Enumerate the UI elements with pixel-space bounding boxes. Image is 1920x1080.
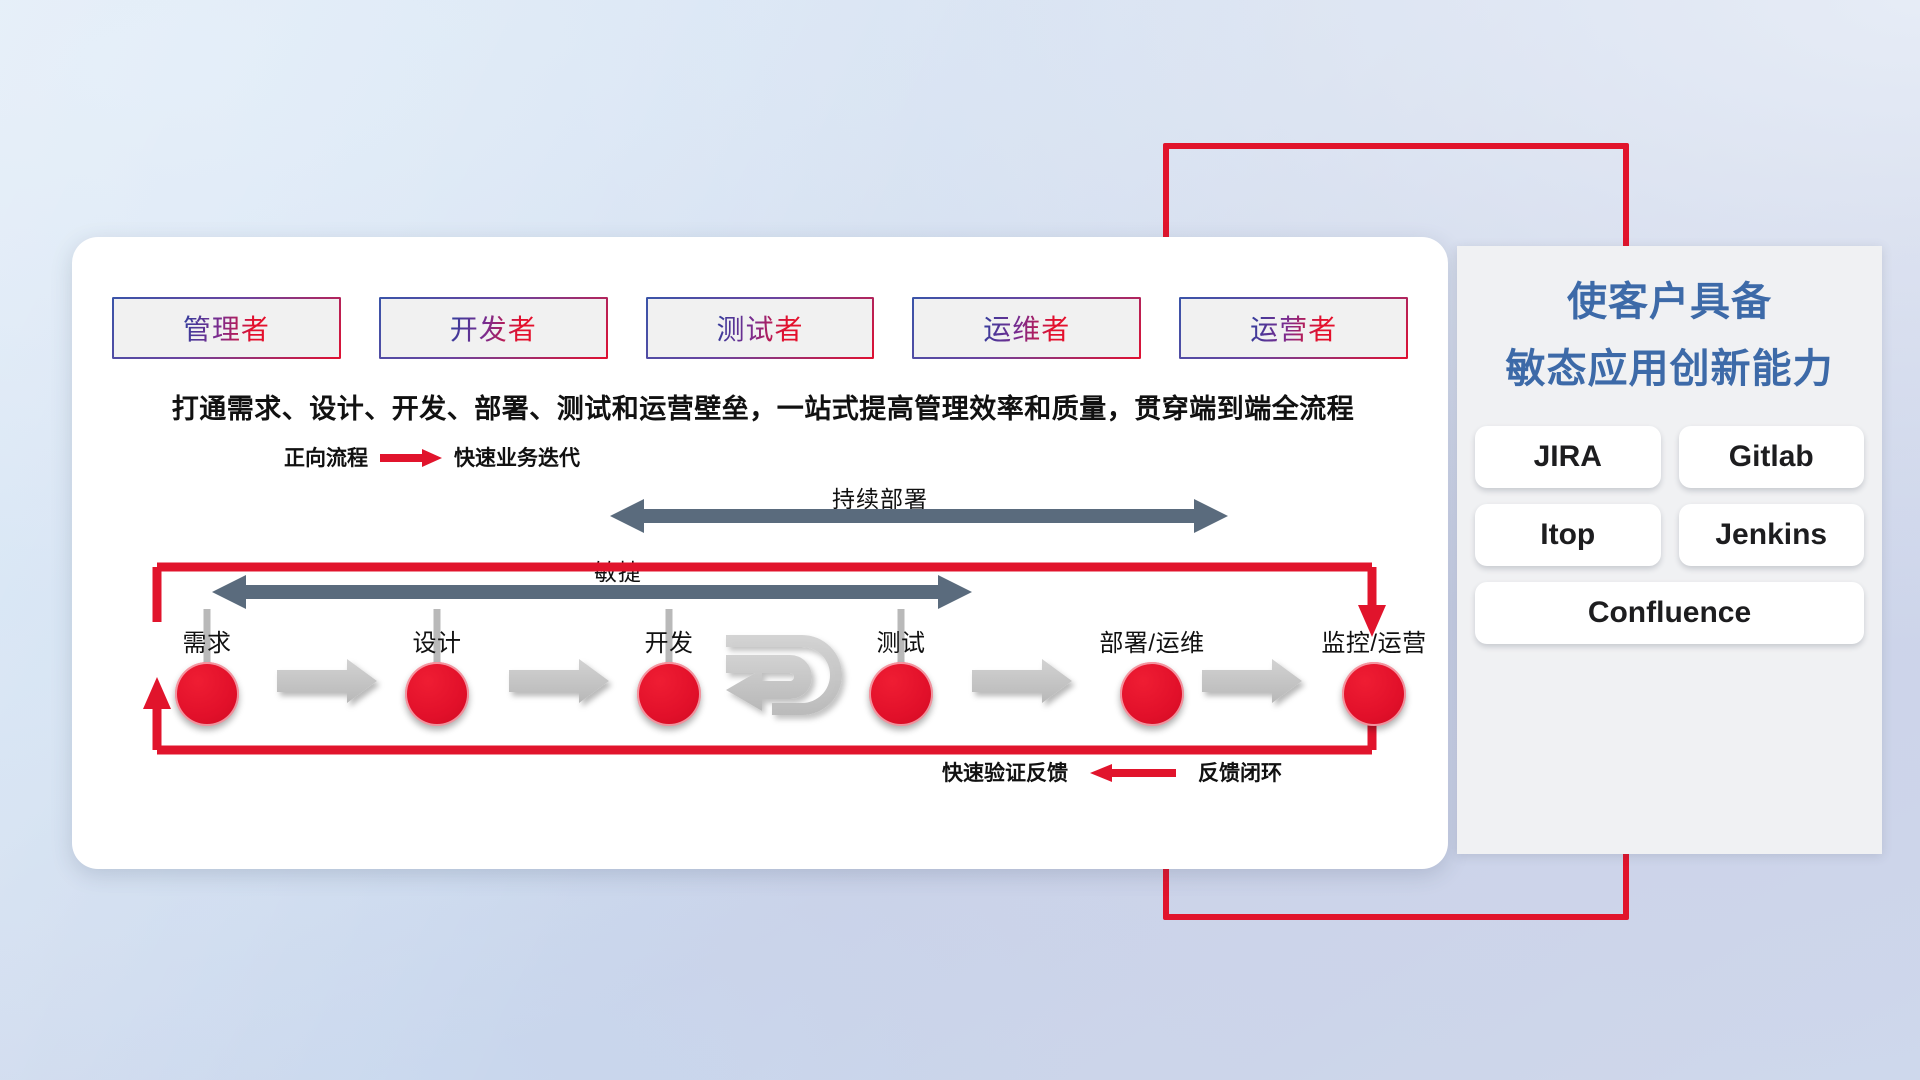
- role-box-ops[interactable]: 运维者: [912, 297, 1141, 359]
- legend-forward-flow: 正向流程 快速业务迭代: [284, 442, 580, 472]
- stage-dot: [1342, 662, 1406, 726]
- stage-requirement[interactable]: 需求: [147, 623, 267, 726]
- role-box-manager[interactable]: 管理者: [112, 297, 341, 359]
- stage-deploy-ops[interactable]: 部署/运维: [1072, 623, 1232, 726]
- tools-grid: JIRA Gitlab Itop Jenkins Confluence: [1475, 426, 1864, 644]
- role-box-tester[interactable]: 测试者: [646, 297, 875, 359]
- role-box-operations[interactable]: 运营者: [1179, 297, 1408, 359]
- arrow-left-red-icon: [1090, 766, 1176, 779]
- devops-flow-card: 管理者 开发者 测试者 运维者 运营者 打通需求、设计、开发、部署、测试和运营壁…: [72, 237, 1448, 869]
- span-label-continuous-deployment: 持续部署: [832, 480, 928, 514]
- tools-panel-title: 使客户具备 敏态应用创新能力: [1457, 246, 1882, 404]
- role-label: 管理者: [183, 308, 270, 348]
- role-label: 开发者: [450, 308, 537, 348]
- tool-chip-jira[interactable]: JIRA: [1475, 426, 1661, 488]
- arrow-agile: [212, 575, 972, 609]
- stage-dot: [405, 662, 469, 726]
- roles-row: 管理者 开发者 测试者 运维者 运营者: [112, 297, 1408, 359]
- stage-label: 测试: [841, 623, 961, 658]
- stage-dot: [869, 662, 933, 726]
- legend-forward-left-label: 正向流程: [284, 442, 368, 472]
- stage-dot: [637, 662, 701, 726]
- role-label: 测试者: [716, 308, 803, 348]
- stage-monitor-operations[interactable]: 监控/运营: [1294, 623, 1448, 726]
- stage-testing[interactable]: 测试: [841, 623, 961, 726]
- tool-chip-itop[interactable]: Itop: [1475, 504, 1661, 566]
- role-label: 运营者: [1250, 308, 1337, 348]
- stage-dot: [1120, 662, 1184, 726]
- legend-feedback-left-label: 快速验证反馈: [942, 757, 1068, 787]
- stage-stems: [207, 609, 901, 712]
- legend-feedback-loop: 快速验证反馈 反馈闭环: [942, 757, 1282, 787]
- stage-label: 监控/运营: [1294, 623, 1448, 658]
- arrow-right-red-icon: [380, 451, 442, 464]
- tool-chip-gitlab[interactable]: Gitlab: [1679, 426, 1865, 488]
- stage-design[interactable]: 设计: [377, 623, 497, 726]
- stage-label: 设计: [377, 623, 497, 658]
- span-label-agile: 敏捷: [594, 553, 642, 587]
- u-turn-loop-icon: [726, 635, 842, 715]
- tool-chip-confluence[interactable]: Confluence: [1475, 582, 1864, 644]
- tools-title-line1: 使客户具备: [1467, 274, 1872, 331]
- role-label: 运维者: [983, 308, 1070, 348]
- stage-label: 需求: [147, 623, 267, 658]
- tools-title-line2: 敏态应用创新能力: [1467, 341, 1872, 398]
- card-description: 打通需求、设计、开发、部署、测试和运营壁垒，一站式提高管理效率和质量，贯穿端到端…: [118, 387, 1408, 426]
- stage-label: 部署/运维: [1072, 623, 1232, 658]
- tool-chip-jenkins[interactable]: Jenkins: [1679, 504, 1865, 566]
- legend-forward-right-label: 快速业务迭代: [454, 442, 580, 472]
- legend-feedback-right-label: 反馈闭环: [1198, 757, 1282, 787]
- tools-panel: 使客户具备 敏态应用创新能力 JIRA Gitlab Itop Jenkins …: [1457, 246, 1882, 854]
- stage-label: 开发: [609, 623, 729, 658]
- role-box-developer[interactable]: 开发者: [379, 297, 608, 359]
- stage-dot: [175, 662, 239, 726]
- stage-development[interactable]: 开发: [609, 623, 729, 726]
